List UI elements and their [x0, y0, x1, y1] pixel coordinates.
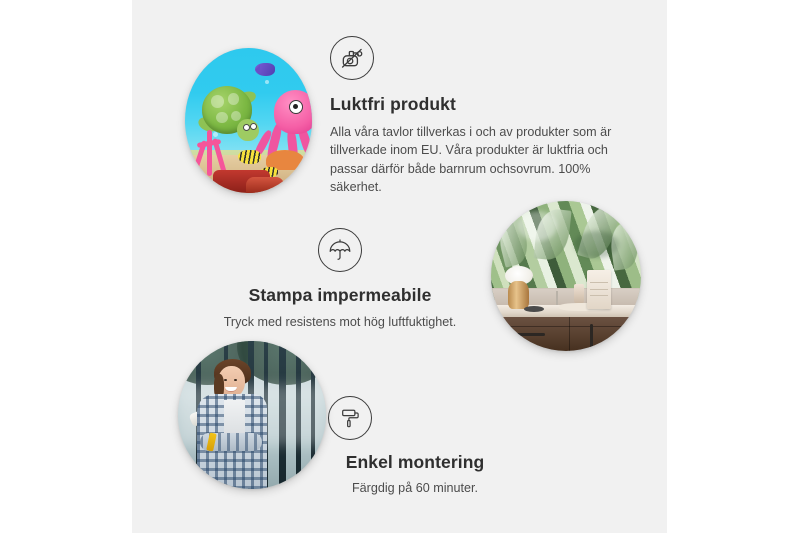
feature-image-odour-free [185, 48, 312, 193]
feature-block-odour-free: Luktfri produkt Alla våra tavlor tillver… [330, 36, 620, 197]
umbrella-icon [205, 228, 475, 272]
pink-coral [191, 125, 229, 176]
soap-bottle [574, 284, 585, 304]
paint-roller-icon [290, 396, 540, 440]
feature-description: Färgdig på 60 minuter. [290, 479, 540, 498]
cabinet-handle [623, 325, 626, 351]
cabinet-handle [590, 324, 593, 351]
faucet [556, 291, 558, 305]
water-bubble [265, 80, 269, 84]
gold-vase [508, 281, 529, 310]
turtle-head [237, 119, 259, 141]
feature-block-easy-mounting: Enkel montering Färgdig på 60 minuter. [290, 396, 540, 497]
yellow-fish [238, 150, 261, 165]
shipwreck [246, 177, 284, 193]
feature-image-waterproof [491, 201, 641, 351]
feature-title: Stampa impermeabile [205, 284, 475, 307]
screenshot-stage: Luktfri produkt Alla våra tavlor tillver… [0, 0, 800, 533]
feature-description: Alla våra tavlor tillverkas i och av pro… [330, 123, 620, 197]
feature-description: Tryck med resistens mot hög luftfuktighe… [205, 313, 475, 332]
decor-board [587, 270, 611, 309]
soap-dish [524, 306, 544, 312]
vanity-cabinet [491, 317, 641, 352]
no-perfume-icon [330, 36, 620, 80]
drawer-handle [509, 333, 545, 336]
feature-title: Enkel montering [290, 451, 540, 474]
blue-fish [255, 63, 275, 76]
bathroom-scene [491, 201, 641, 351]
underwater-scene [185, 48, 312, 193]
feature-title: Luktfri produkt [330, 93, 620, 116]
feature-block-waterproof: Stampa impermeabile Tryck med resistens … [205, 228, 475, 331]
